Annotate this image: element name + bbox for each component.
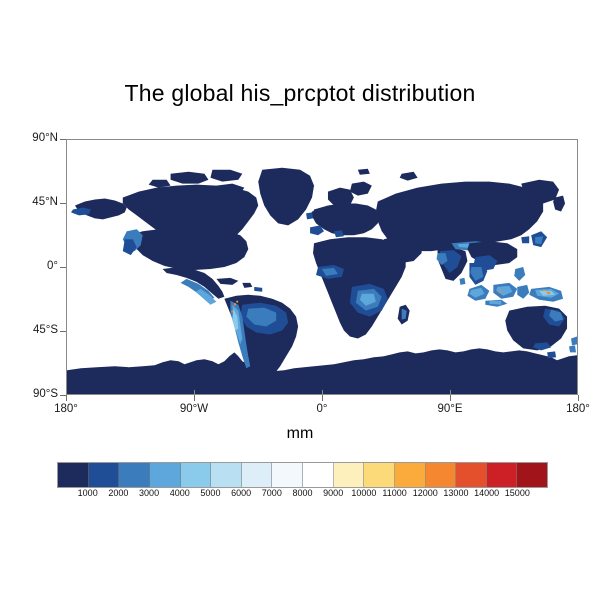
- ytick-mark-45s: [60, 331, 66, 332]
- page-title: The global his_prcptot distribution: [0, 80, 600, 107]
- colorbar-tick-2000: 2000: [108, 489, 128, 498]
- colorbar-tick-8000: 8000: [292, 489, 312, 498]
- ytick-label-45n: 45°N: [32, 197, 58, 209]
- colorbar-tick-15000: 15000: [505, 489, 530, 498]
- xtick-inner-0: [322, 390, 323, 395]
- axis-unit-label: mm: [0, 425, 600, 443]
- colorbar-segment-2: [119, 463, 150, 487]
- xtick-label-180w: 180°: [54, 404, 78, 416]
- ytick-mark-0: [60, 267, 66, 268]
- colorbar-segment-12: [426, 463, 457, 487]
- xtick-label-90w: 90°W: [180, 404, 208, 416]
- colorbar-tick-3000: 3000: [139, 489, 159, 498]
- xtick-inner-90e: [450, 390, 451, 395]
- colorbar-segment-1: [89, 463, 120, 487]
- colorbar-tick-14000: 14000: [474, 489, 499, 498]
- colorbar-segment-4: [181, 463, 212, 487]
- colorbar-segment-9: [334, 463, 365, 487]
- figure-canvas: The global his_prcptot distribution .b0 …: [0, 0, 600, 600]
- colorbar-tick-13000: 13000: [443, 489, 468, 498]
- ytick-label-45s: 45°S: [33, 325, 58, 337]
- colorbar-tick-labels: 1000200030004000500060007000800090001000…: [57, 489, 548, 503]
- colorbar-segment-10: [364, 463, 395, 487]
- ytick-label-0: 0°: [47, 261, 58, 273]
- xtick-label-0: 0°: [317, 404, 328, 416]
- xtick-mark-90e: [450, 395, 451, 401]
- colorbar-tick-10000: 10000: [351, 489, 376, 498]
- xtick-inner-90w: [194, 390, 195, 395]
- xtick-label-90e: 90°E: [437, 404, 462, 416]
- colorbar-tick-6000: 6000: [231, 489, 251, 498]
- colorbar-segment-0: [58, 463, 89, 487]
- colorbar-tick-12000: 12000: [413, 489, 438, 498]
- colorbar-segment-11: [395, 463, 426, 487]
- colorbar-segment-7: [272, 463, 303, 487]
- colorbar-segment-6: [242, 463, 273, 487]
- colorbar-tick-11000: 11000: [382, 489, 406, 498]
- colorbar-tick-1000: 1000: [78, 489, 98, 498]
- colorbar-segment-14: [487, 463, 518, 487]
- colorbar-tick-4000: 4000: [170, 489, 190, 498]
- world-map: .b0 { fill:#1d2a5c; } .b1 { fill:#1f4e96…: [67, 140, 577, 394]
- colorbar-segment-8: [303, 463, 334, 487]
- colorbar[interactable]: [57, 462, 548, 488]
- xtick-label-180e: 180°: [566, 404, 590, 416]
- ytick-label-90n: 90°N: [32, 133, 58, 145]
- colorbar-segment-3: [150, 463, 181, 487]
- xtick-mark-90w: [194, 395, 195, 401]
- map-plot-area[interactable]: .b0 { fill:#1d2a5c; } .b1 { fill:#1f4e96…: [66, 139, 578, 395]
- xtick-mark-180e: [578, 395, 579, 401]
- colorbar-tick-5000: 5000: [200, 489, 220, 498]
- xtick-mark-0: [322, 395, 323, 401]
- xtick-mark-180w: [66, 395, 67, 401]
- ytick-mark-90n: [60, 139, 66, 140]
- colorbar-tick-9000: 9000: [323, 489, 343, 498]
- ytick-label-90s: 90°S: [33, 389, 58, 401]
- colorbar-segment-13: [456, 463, 487, 487]
- colorbar-segment-15: [517, 463, 547, 487]
- colorbar-segment-5: [211, 463, 242, 487]
- ytick-mark-45n: [60, 203, 66, 204]
- colorbar-tick-7000: 7000: [262, 489, 282, 498]
